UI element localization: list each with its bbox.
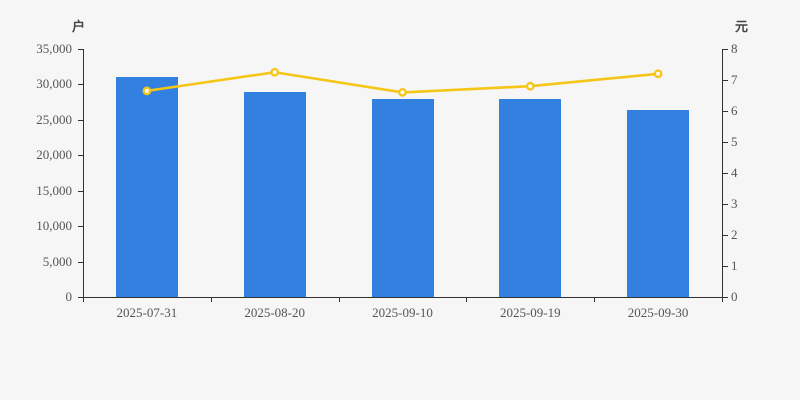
- x-axis-tick: [466, 297, 467, 302]
- right-axis-tick-label: 2: [731, 228, 738, 241]
- left-axis-tick-label: 20,000: [36, 148, 72, 161]
- x-axis-category-label: 2025-08-20: [244, 305, 305, 321]
- x-axis-line: [83, 297, 723, 298]
- bar-2025-09-30[interactable]: [627, 110, 689, 297]
- right-axis-tick-label: 4: [731, 166, 738, 179]
- left-axis-tick-label: 0: [66, 290, 73, 303]
- x-axis-tick: [211, 297, 212, 302]
- bar-2025-09-19[interactable]: [499, 99, 561, 297]
- chart-container: 户 元 05,00010,00015,00020,00025,00030,000…: [0, 0, 800, 400]
- x-axis-category-label: 2025-09-10: [372, 305, 433, 321]
- right-axis-tick-label: 7: [731, 73, 738, 86]
- right-axis-tick: [723, 80, 728, 81]
- right-axis-tick: [723, 173, 728, 174]
- right-axis-tick: [723, 111, 728, 112]
- left-axis-tick-label: 30,000: [36, 77, 72, 90]
- left-axis-tick-label: 35,000: [36, 42, 72, 55]
- right-axis-tick-label: 1: [731, 259, 738, 272]
- left-axis-tick-label: 25,000: [36, 113, 72, 126]
- right-axis-tick-label: 3: [731, 197, 738, 210]
- x-axis-tick: [83, 297, 84, 302]
- bar-2025-08-20[interactable]: [244, 92, 306, 297]
- left-axis-unit-label: 户: [72, 16, 85, 35]
- right-axis-unit-label: 元: [735, 16, 748, 35]
- x-axis-category-label: 2025-09-19: [500, 305, 561, 321]
- x-axis-tick: [722, 297, 723, 302]
- right-axis-tick: [723, 49, 728, 50]
- right-axis-tick: [723, 266, 728, 267]
- right-axis-tick-label: 6: [731, 104, 738, 117]
- left-axis-tick-label: 15,000: [36, 184, 72, 197]
- x-axis-tick: [594, 297, 595, 302]
- right-axis-tick-label: 0: [731, 290, 738, 303]
- x-axis-category-label: 2025-07-31: [117, 305, 178, 321]
- bar-2025-07-31[interactable]: [116, 77, 178, 297]
- left-axis-tick-label: 10,000: [36, 219, 72, 232]
- left-axis-tick-label: 5,000: [43, 255, 72, 268]
- right-axis-tick: [723, 235, 728, 236]
- bar-2025-09-10[interactable]: [372, 99, 434, 297]
- right-axis-tick-label: 8: [731, 42, 738, 55]
- bar-series-layer: [83, 49, 722, 297]
- x-axis-category-label: 2025-09-30: [628, 305, 689, 321]
- right-axis-tick-label: 5: [731, 135, 738, 148]
- right-axis-tick: [723, 142, 728, 143]
- right-axis-tick: [723, 204, 728, 205]
- right-axis-tick: [723, 297, 728, 298]
- x-axis-tick: [339, 297, 340, 302]
